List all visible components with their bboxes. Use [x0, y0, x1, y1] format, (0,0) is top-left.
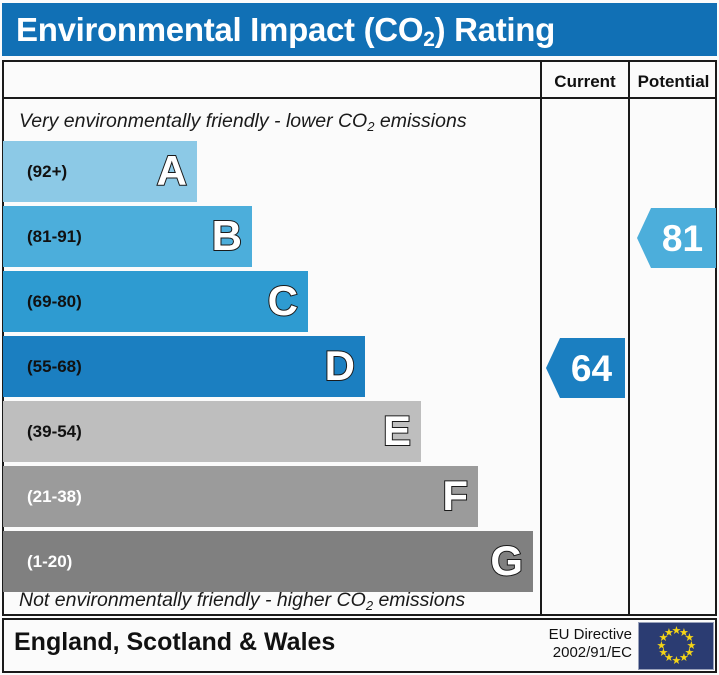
rating-band-a: (92+) A — [3, 141, 197, 202]
rating-band-b-letter: B — [212, 206, 242, 267]
chart-title-bar: Environmental Impact (CO2) Rating — [2, 3, 717, 56]
rating-band-f: (21-38) F — [3, 466, 478, 527]
rating-band-b-range: (81-91) — [27, 206, 82, 267]
rating-band-e: (39-54) E — [3, 401, 421, 462]
epc-environmental-impact-chart: Environmental Impact (CO2) Rating Curren… — [0, 0, 719, 675]
rating-band-b: (81-91) B — [3, 206, 252, 267]
current-rating-value: 64 — [559, 350, 612, 387]
potential-rating-marker: 81 — [637, 208, 716, 268]
potential-rating-value: 81 — [650, 220, 703, 257]
top-caption: Very environmentally friendly - lower CO… — [19, 110, 467, 133]
rating-band-a-range: (92+) — [27, 141, 67, 202]
rating-band-g-letter: G — [490, 531, 523, 592]
footer-directive-line2: 2002/91/EC — [524, 644, 632, 662]
rating-band-g-range: (1-20) — [27, 531, 72, 592]
rating-band-c-letter: C — [268, 271, 298, 332]
footer-directive-line1: EU Directive — [524, 626, 632, 644]
rating-band-f-range: (21-38) — [27, 466, 82, 527]
current-column-header: Current — [542, 70, 628, 94]
bottom-caption: Not environmentally friendly - higher CO… — [19, 589, 465, 612]
footer-region-label: England, Scotland & Wales — [14, 628, 335, 657]
rating-band-a-letter: A — [157, 141, 187, 202]
rating-band-c: (69-80) C — [3, 271, 308, 332]
header-separator — [2, 97, 717, 99]
potential-column-header: Potential — [630, 70, 717, 94]
rating-band-g: (1-20) G — [3, 531, 533, 592]
eu-star-icon: ★ — [664, 629, 673, 638]
current-column-divider — [540, 60, 542, 616]
rating-band-e-range: (39-54) — [27, 401, 82, 462]
top-caption-subscript: 2 — [367, 119, 374, 134]
rating-band-d: (55-68) D — [3, 336, 365, 397]
title-subscript: 2 — [423, 28, 434, 51]
rating-band-d-letter: D — [325, 336, 355, 397]
rating-band-c-range: (69-80) — [27, 271, 82, 332]
eu-flag-icon: ★★★★★★★★★★★★ — [638, 622, 714, 670]
potential-column-divider — [628, 60, 630, 616]
current-rating-marker: 64 — [546, 338, 625, 398]
rating-band-e-letter: E — [383, 401, 411, 462]
page-title: Environmental Impact (CO2) Rating — [16, 11, 555, 49]
rating-band-d-range: (55-68) — [27, 336, 82, 397]
footer-directive: EU Directive 2002/91/EC — [524, 626, 632, 662]
rating-band-f-letter: F — [442, 466, 468, 527]
bottom-caption-subscript: 2 — [366, 598, 373, 613]
